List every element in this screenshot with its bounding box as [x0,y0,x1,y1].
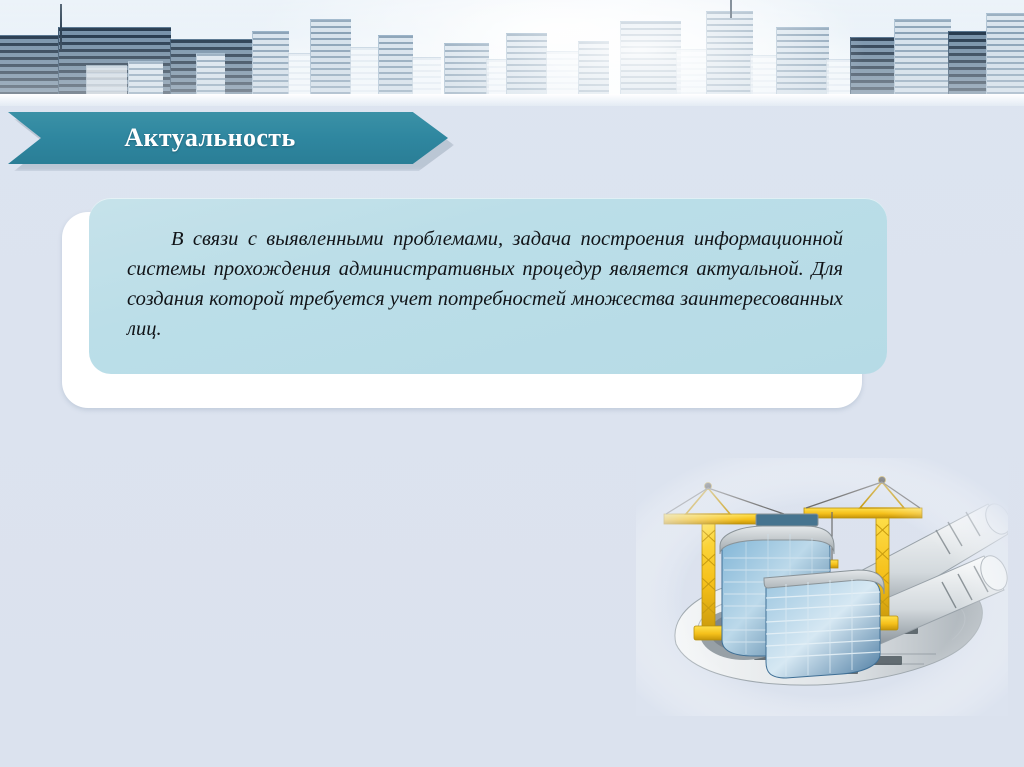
card-blue-panel: В связи с выявленными проблемами, задача… [89,198,887,374]
presentation-slide: Актуальность В связи с выявленными пробл… [0,0,1024,767]
construction-site-3d-render [636,458,1008,716]
title-banner: Актуальность [8,112,448,164]
image-edge-fade [636,458,1008,716]
content-card: В связи с выявленными проблемами, задача… [62,198,887,408]
header-divider [0,94,1024,106]
header-cityscape-image [0,0,1024,94]
page-title: Актуальность [8,112,412,164]
body-paragraph: В связи с выявленными проблемами, задача… [127,224,843,344]
